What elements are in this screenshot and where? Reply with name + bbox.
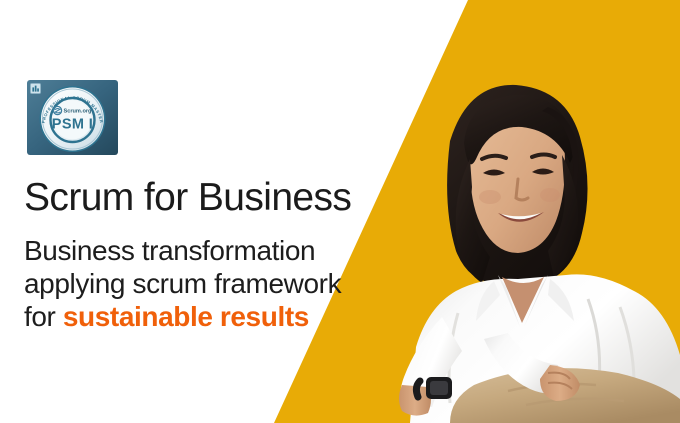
subtitle-accent-phrase: sustainable results [63, 301, 309, 332]
subtitle-line-2: applying scrum framework [24, 267, 454, 300]
subtitle-line-3-prefix: for [24, 301, 63, 332]
subtitle-line-1: Business transformation [24, 234, 454, 267]
promo-banner: PROFESSIONAL SCRUM MASTER Scrum.org PSM … [0, 0, 680, 423]
credential-chip-icon [31, 84, 41, 94]
page-title: Scrum for Business [24, 176, 454, 220]
badge-brand-text: Scrum.org [64, 108, 93, 114]
banner-text-block: Scrum for Business Business transformati… [24, 176, 454, 333]
banner-subtitle: Business transformation applying scrum f… [24, 234, 454, 333]
subtitle-line-3: for sustainable results [24, 300, 454, 333]
badge-certification-code: PSM I [52, 117, 93, 133]
psm-i-certification-badge: PROFESSIONAL SCRUM MASTER Scrum.org PSM … [26, 79, 119, 156]
